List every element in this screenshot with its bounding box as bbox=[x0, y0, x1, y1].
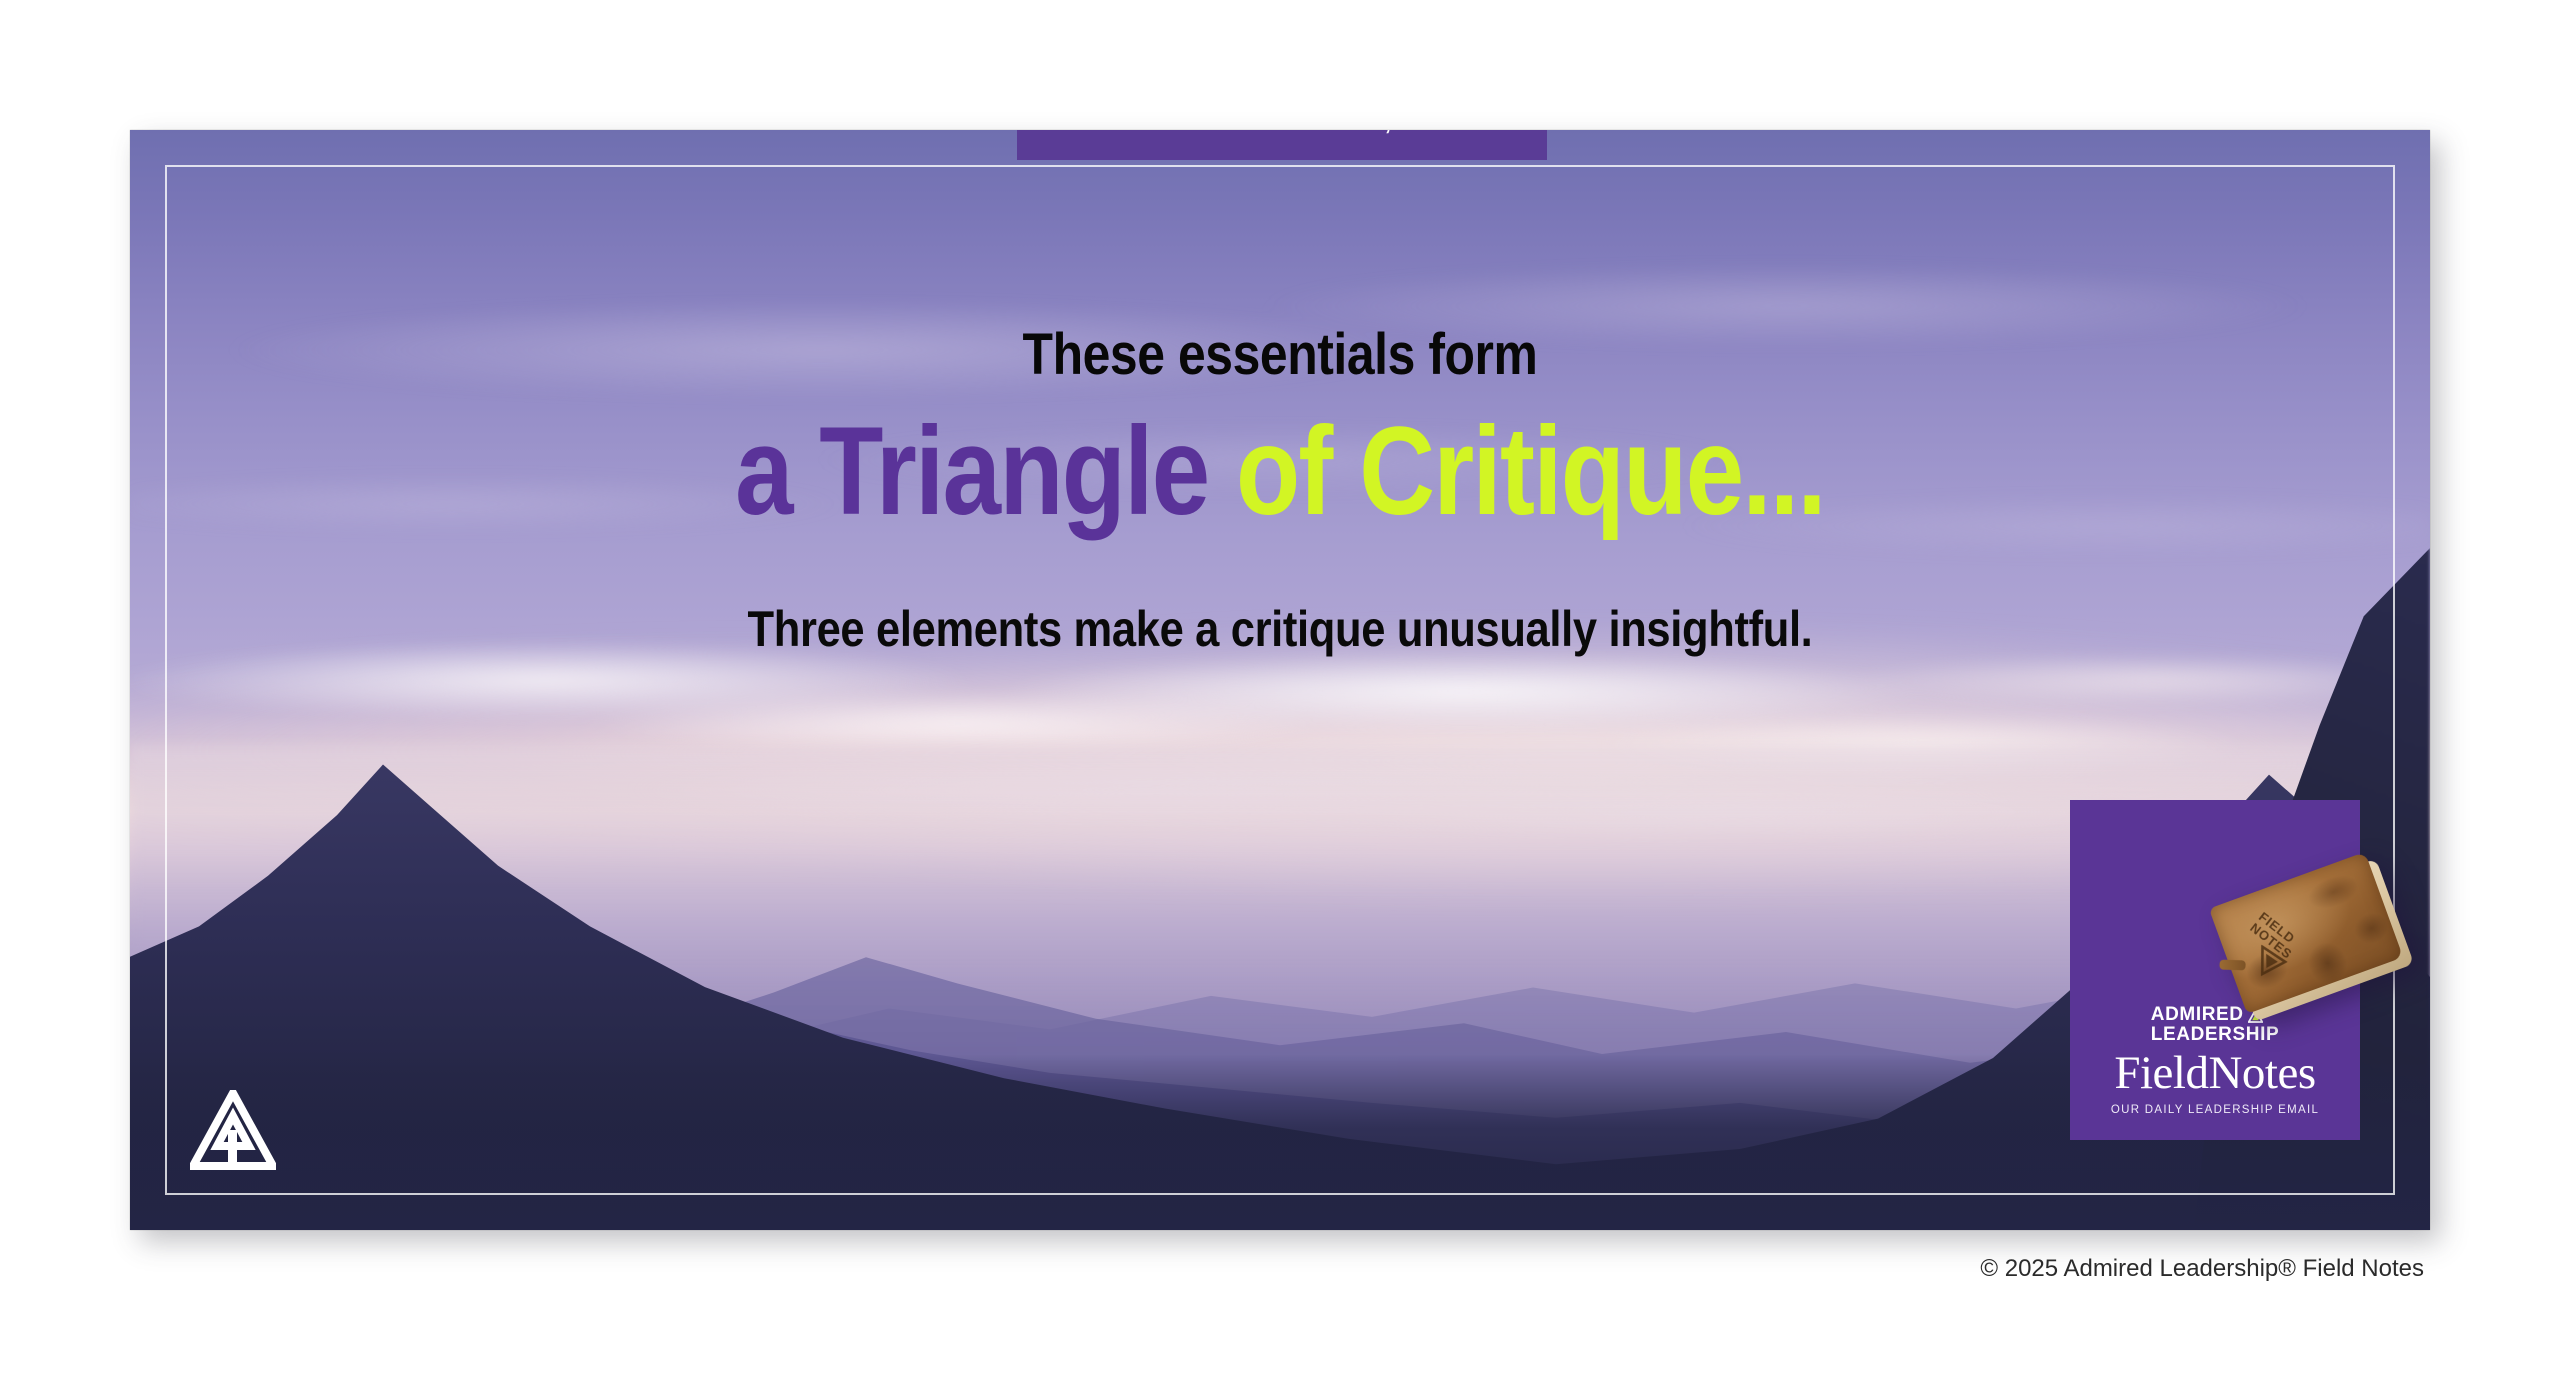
promo-tagline: OUR DAILY LEADERSHIP EMAIL bbox=[2070, 1104, 2360, 1116]
issue-banner: Field Notes: No. 1,625 bbox=[1017, 130, 1547, 160]
headline-part-lime: of Critique... bbox=[1236, 402, 1825, 541]
notebook-strap bbox=[2219, 960, 2245, 971]
copyright-text: © 2025 Admired Leadership® Field Notes bbox=[1980, 1255, 2424, 1283]
admired-leadership-logo-icon bbox=[190, 1090, 276, 1170]
subheadline: Three elements make a critique unusually… bbox=[280, 600, 2281, 658]
brand-line-1: ADMIRED bbox=[2151, 1005, 2244, 1025]
headline-main: a Triangle of Critique... bbox=[314, 408, 2246, 536]
headline-block: These essentials form a Triangle of Crit… bbox=[130, 325, 2430, 535]
promo-title: FieldNotes bbox=[2070, 1050, 2360, 1097]
hero-image: Field Notes: No. 1,625 These essentials … bbox=[130, 130, 2430, 1230]
brand-line-2: LEADERSHIP bbox=[2151, 1025, 2279, 1045]
issue-banner-label: Field Notes: No. 1,625 bbox=[1116, 130, 1449, 137]
promo-card-content: ADMIRED LEADERSHIP FieldNotes OUR DAILY … bbox=[2070, 1005, 2360, 1116]
page-root: Field Notes: No. 1,625 These essentials … bbox=[0, 0, 2560, 1375]
headline-kicker: These essentials form bbox=[291, 325, 2269, 386]
headline-part-purple: a Triangle bbox=[735, 402, 1208, 541]
